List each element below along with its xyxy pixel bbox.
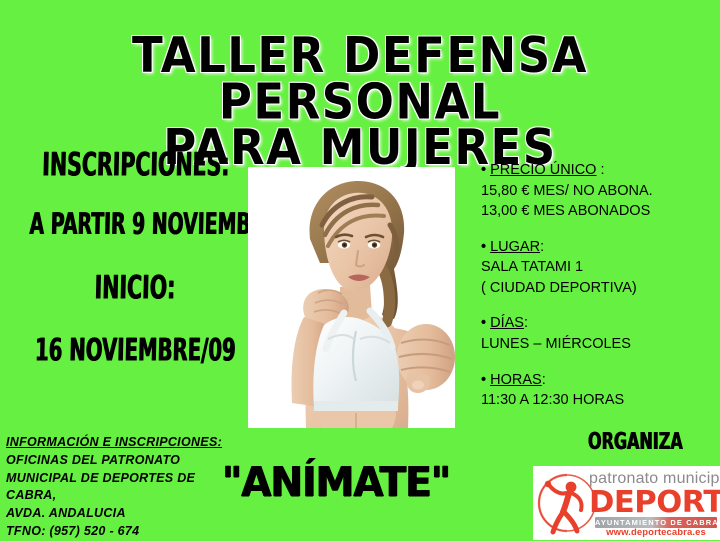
detail-line: LUNES – MIÉRCOLES xyxy=(481,334,717,355)
contact-phone: TFNO: (957) 520 - 674 xyxy=(6,523,256,541)
detail-line: ( CIUDAD DEPORTIVA) xyxy=(481,278,717,299)
enrollment-dates-block: INSCRIPCIONES: A PARTIR 9 NOVIEMBRE/09 I… xyxy=(8,150,248,364)
detail-line: SALA TATAMI 1 xyxy=(481,257,717,278)
enrollment-start-date: A PARTIR 9 NOVIEMBRE/09 xyxy=(29,208,227,242)
detail-heading-suffix: : xyxy=(524,315,528,331)
course-start-date: 16 NOVIEMBRE/09 xyxy=(35,332,228,368)
detail-group-lugar: • LUGAR: SALA TATAMI 1 ( CIUDAD DEPORTIV… xyxy=(481,237,717,299)
detail-heading-horas: • HORAS: xyxy=(481,370,717,391)
detail-heading-text: HORAS xyxy=(490,372,542,388)
call-to-action-text: "ANÍMATE" xyxy=(222,459,450,506)
detail-heading-precio: • PRECIO ÚNICO : xyxy=(481,160,717,181)
detail-group-horas: • HORAS: 11:30 A 12:30 HORAS xyxy=(481,370,717,411)
contact-heading: INFORMACIÓN E INSCRIPCIONES: xyxy=(6,434,256,452)
bullet-icon: • xyxy=(481,162,486,178)
discus-thrower-icon xyxy=(537,470,597,536)
course-details-block: • PRECIO ÚNICO : 15,80 € MES/ NO ABONA. … xyxy=(481,160,717,426)
detail-line: 15,80 € MES/ NO ABONA. xyxy=(481,181,717,202)
course-start-label: INICIO: xyxy=(42,269,228,307)
detail-heading-text: PRECIO ÚNICO xyxy=(490,162,596,178)
poster-canvas: TALLER DEFENSA PERSONAL PARA MUJERES INS… xyxy=(0,0,720,540)
contact-line: CABRA, xyxy=(6,487,256,505)
detail-group-precio: • PRECIO ÚNICO : 15,80 € MES/ NO ABONA. … xyxy=(481,160,717,222)
enrollment-label: INSCRIPCIONES: xyxy=(42,146,228,184)
contact-line: AVDA. ANDALUCIA xyxy=(6,505,256,523)
detail-heading-suffix: : xyxy=(596,162,604,178)
bullet-icon: • xyxy=(481,372,486,388)
detail-heading-dias: • DÍAS: xyxy=(481,313,717,334)
organizer-logo: patronato municipal DEPORTES AYUNTAMIENT… xyxy=(533,466,720,540)
detail-heading-text: DÍAS xyxy=(490,315,524,331)
contact-line: MUNICIPAL DE DEPORTES DE xyxy=(6,470,256,488)
title-line-1: TALLER DEFENSA PERSONAL xyxy=(0,32,720,125)
detail-group-dias: • DÍAS: LUNES – MIÉRCOLES xyxy=(481,313,717,354)
bullet-icon: • xyxy=(481,315,486,331)
detail-line: 13,00 € MES ABONADOS xyxy=(481,201,717,222)
detail-line: 11:30 A 12:30 HORAS xyxy=(481,390,717,411)
contact-line: OFICINAS DEL PATRONATO xyxy=(6,452,256,470)
logo-website: www.deportecabra.es xyxy=(595,528,717,538)
workshop-photo xyxy=(248,167,455,428)
contact-info-block: INFORMACIÓN E INSCRIPCIONES: OFICINAS DE… xyxy=(6,434,256,541)
detail-heading-suffix: : xyxy=(540,239,544,255)
detail-heading-text: LUGAR xyxy=(490,239,540,255)
bullet-icon: • xyxy=(481,239,486,255)
detail-heading-lugar: • LUGAR: xyxy=(481,237,717,258)
organizer-label: ORGANIZA xyxy=(588,427,683,455)
detail-heading-suffix: : xyxy=(542,372,546,388)
logo-line-deportes: DEPORTES xyxy=(589,488,720,519)
